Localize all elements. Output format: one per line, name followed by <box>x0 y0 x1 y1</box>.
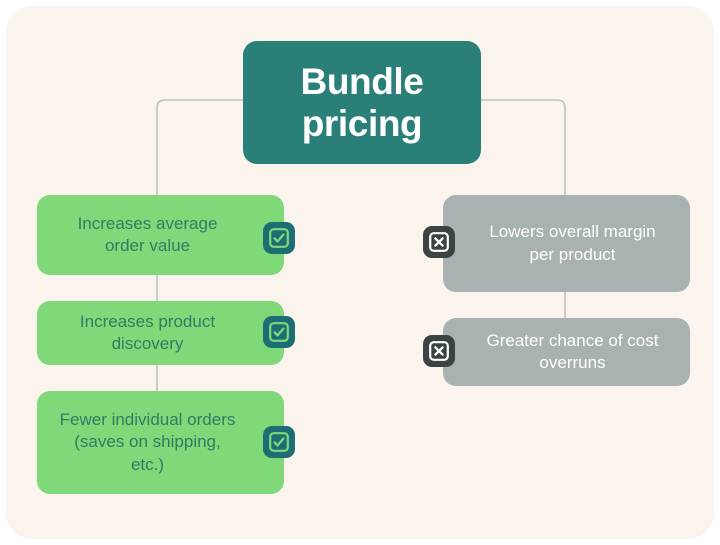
con-node-1-label: Lowers overall margin per product <box>477 221 668 265</box>
pro-node-1-label: Increases average order value <box>57 213 238 257</box>
checkbox-check-icon <box>263 316 295 348</box>
page-title: Bundle pricing <box>257 61 467 144</box>
pro-node-1: Increases average order value <box>37 195 284 275</box>
diagram-header-node: Bundle pricing <box>243 41 481 164</box>
con-node-2: Greater chance of cost overruns <box>443 318 690 386</box>
diagram-canvas: Bundle pricing Increases average order v… <box>0 0 720 545</box>
con-node-2-label: Greater chance of cost overruns <box>477 330 668 374</box>
pro-node-3-label: Fewer individual orders (saves on shippi… <box>57 409 238 475</box>
con-node-1: Lowers overall margin per product <box>443 195 690 292</box>
checkbox-cross-icon <box>423 226 455 258</box>
checkbox-check-icon <box>263 222 295 254</box>
checkbox-cross-icon <box>423 335 455 367</box>
pro-node-2-label: Increases product discovery <box>57 311 238 355</box>
pro-node-2: Increases product discovery <box>37 301 284 365</box>
checkbox-check-icon <box>263 426 295 458</box>
pro-node-3: Fewer individual orders (saves on shippi… <box>37 391 284 494</box>
